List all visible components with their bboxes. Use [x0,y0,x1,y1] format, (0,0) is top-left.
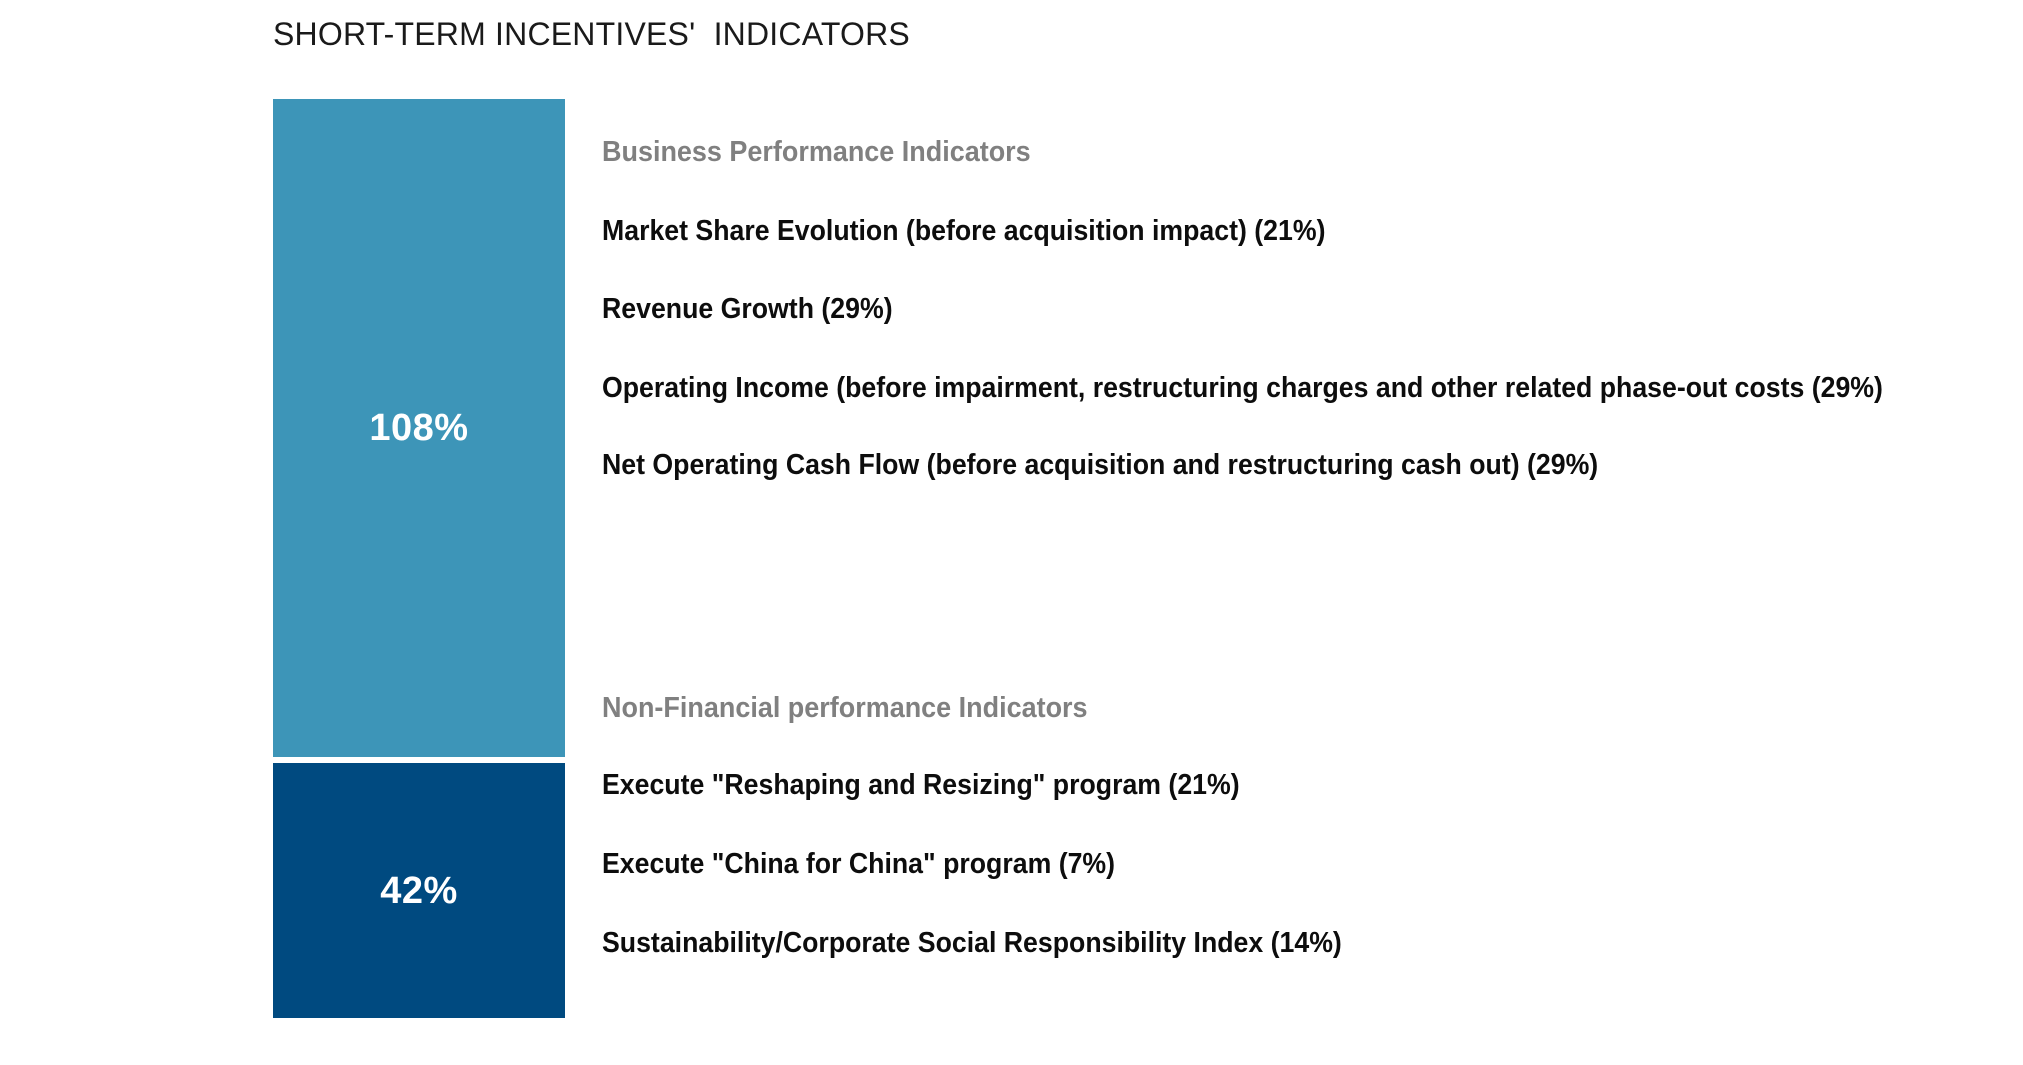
indicator-item-market-share-evolution: Market Share Evolution (before acquisiti… [602,213,1325,249]
indicator-item-revenue-growth: Revenue Growth (29%) [602,291,893,327]
indicator-item-operating-income: Operating Income (before impairment, res… [602,370,1883,406]
group-heading-business-performance: Business Performance Indicators [602,134,1031,170]
bar-segment-non-financial[interactable]: 42% [273,763,565,1018]
stacked-bar-chart: 108% 42% [273,99,565,1018]
bar-value-business-performance: 108% [369,409,468,447]
bar-value-non-financial: 42% [380,872,458,910]
indicator-panel: Business Performance Indicators Market S… [602,0,2002,1065]
slide-canvas: SHORT-TERM INCENTIVES' INDICATORS 108% 4… [0,0,2023,1065]
group-heading-non-financial: Non-Financial performance Indicators [602,690,1088,726]
bar-segment-business-performance[interactable]: 108% [273,99,565,757]
indicator-item-china-for-china: Execute "China for China" program (7%) [602,846,1115,882]
indicator-item-reshaping-and-resizing: Execute "Reshaping and Resizing" program… [602,767,1240,803]
indicator-item-net-operating-cash-flow: Net Operating Cash Flow (before acquisit… [602,447,1598,483]
indicator-item-sustainability-csr-index: Sustainability/Corporate Social Responsi… [602,925,1342,961]
